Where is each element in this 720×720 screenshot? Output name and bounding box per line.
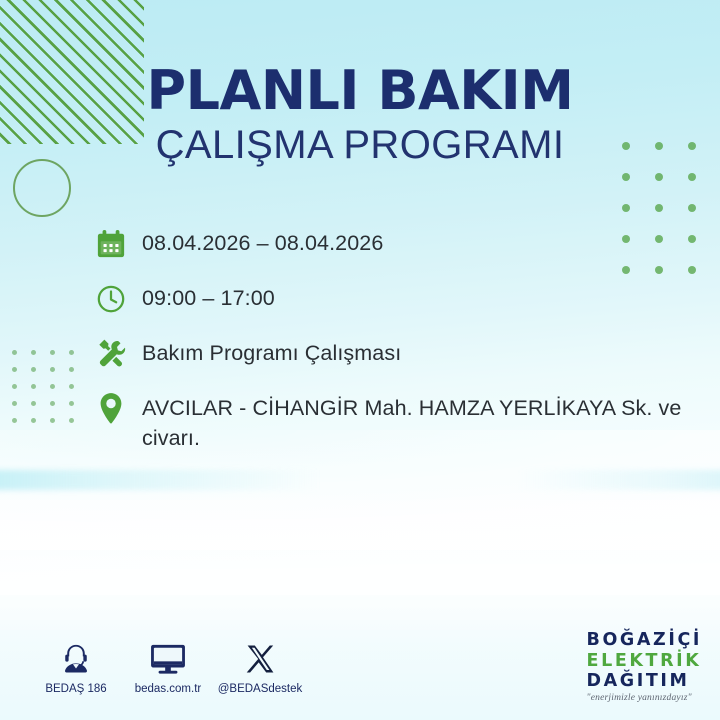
location-pin-icon bbox=[96, 391, 142, 427]
dot bbox=[50, 350, 55, 355]
headset-support-icon bbox=[30, 640, 122, 678]
maintenance-details: 08.04.2026 – 08.04.2026 09:00 – 17:00 bbox=[96, 226, 696, 472]
dot bbox=[69, 367, 74, 372]
planned-maintenance-poster: PLANLI BAKIM ÇALIŞMA PROGRAMI bbox=[0, 0, 720, 720]
contact-social-label: @BEDASdestek bbox=[214, 683, 306, 695]
dot bbox=[655, 204, 663, 212]
title-subtitle: ÇALIŞMA PROGRAMI bbox=[0, 122, 720, 168]
dot bbox=[69, 350, 74, 355]
tools-icon bbox=[96, 336, 142, 372]
dot bbox=[622, 204, 630, 212]
dot bbox=[12, 384, 17, 389]
detail-row-date: 08.04.2026 – 08.04.2026 bbox=[96, 226, 696, 262]
dot bbox=[12, 418, 17, 423]
contact-website[interactable]: bedas.com.tr bbox=[122, 640, 214, 695]
wave-decoration-line bbox=[0, 470, 720, 490]
time-range-value: 09:00 – 17:00 bbox=[142, 281, 275, 313]
location-value: AVCILAR - CİHANGİR Mah. HAMZA YERLİKAYA … bbox=[142, 391, 682, 453]
dot bbox=[31, 384, 36, 389]
dot bbox=[12, 367, 17, 372]
title-main: PLANLI BAKIM bbox=[0, 62, 720, 120]
dot bbox=[655, 173, 663, 181]
dot bbox=[69, 401, 74, 406]
page-title: PLANLI BAKIM ÇALIŞMA PROGRAMI bbox=[0, 62, 720, 168]
dot bbox=[50, 367, 55, 372]
date-range-value: 08.04.2026 – 08.04.2026 bbox=[142, 226, 383, 258]
clock-icon bbox=[96, 281, 142, 317]
work-type-value: Bakım Programı Çalışması bbox=[142, 336, 401, 368]
dot bbox=[50, 401, 55, 406]
wave-decoration-mid bbox=[0, 500, 720, 630]
contact-social[interactable]: @BEDASdestek bbox=[214, 640, 306, 695]
dot bbox=[31, 350, 36, 355]
brand-line-3: DAĞITIM bbox=[587, 673, 702, 691]
calendar-icon bbox=[96, 226, 142, 262]
brand-tagline: "enerjimizle yanınızdayız" bbox=[587, 694, 702, 704]
dot-grid-left-decoration bbox=[12, 350, 88, 435]
contact-phone-label: BEDAŞ 186 bbox=[30, 683, 122, 695]
brand-logo: BOĞAZİÇİ ELEKTRİK DAĞITIM "enerjimizle y… bbox=[587, 632, 702, 703]
footer-contacts: BEDAŞ 186 bedas.com.tr @BEDASdestek bbox=[30, 640, 306, 695]
brand-line-1: BOĞAZİÇİ bbox=[587, 632, 702, 650]
dot bbox=[688, 204, 696, 212]
dot bbox=[50, 384, 55, 389]
x-twitter-icon bbox=[214, 640, 306, 678]
dot bbox=[69, 418, 74, 423]
dot bbox=[12, 401, 17, 406]
dot bbox=[31, 367, 36, 372]
monitor-icon bbox=[122, 640, 214, 678]
detail-row-time: 09:00 – 17:00 bbox=[96, 281, 696, 317]
detail-row-work-type: Bakım Programı Çalışması bbox=[96, 336, 696, 372]
dot bbox=[688, 173, 696, 181]
dot bbox=[12, 350, 17, 355]
detail-row-location: AVCILAR - CİHANGİR Mah. HAMZA YERLİKAYA … bbox=[96, 391, 696, 453]
dot bbox=[622, 173, 630, 181]
contact-phone[interactable]: BEDAŞ 186 bbox=[30, 640, 122, 695]
dot bbox=[69, 384, 74, 389]
contact-website-label: bedas.com.tr bbox=[122, 683, 214, 695]
dot bbox=[31, 401, 36, 406]
brand-line-2: ELEKTRİK bbox=[587, 653, 702, 671]
dot bbox=[50, 418, 55, 423]
dot bbox=[31, 418, 36, 423]
